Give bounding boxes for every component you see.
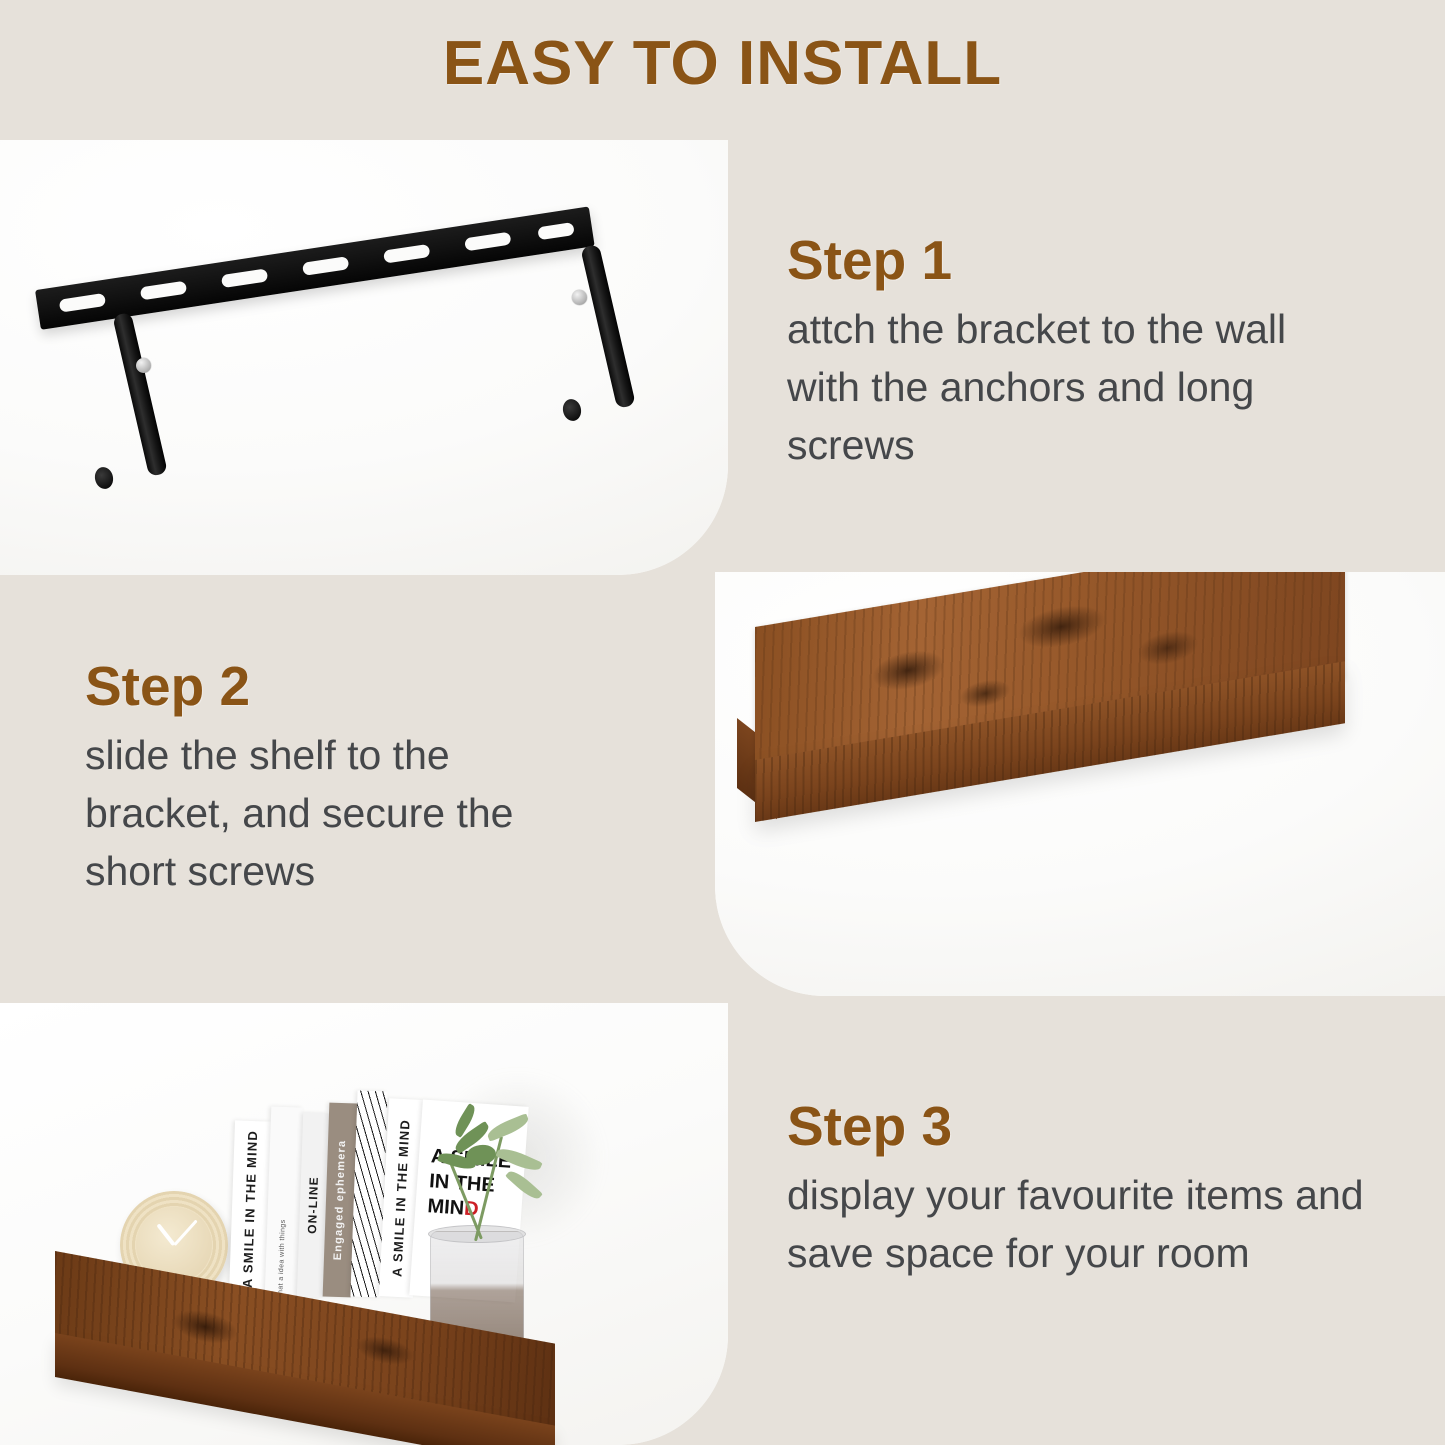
shelf-on-bracket-illustration: [715, 572, 1445, 996]
step-1-image-panel: [0, 140, 728, 575]
bracket-slot: [464, 232, 511, 252]
step-3-text-block: Step 3 display your favourite items and …: [787, 1098, 1437, 1282]
step-1-body: attch the bracket to the wall with the a…: [787, 300, 1347, 475]
rod-end-cap: [561, 397, 583, 422]
bracket-screw: [572, 290, 587, 305]
page-title: EASY TO INSTALL: [0, 28, 1445, 99]
infographic-canvas: EASY TO INSTALL Step 1: [0, 0, 1445, 1445]
step-1-text-block: Step 1 attch the bracket to the wall wit…: [787, 232, 1347, 474]
bracket-screw: [136, 358, 151, 373]
book-title: Engaged ephemera: [332, 1139, 348, 1260]
bracket-rod-right: [580, 244, 636, 409]
rod-end-cap: [93, 465, 115, 490]
bracket-slot: [383, 244, 430, 264]
bracket-bar: [35, 206, 595, 329]
clock-minute-hand: [173, 1219, 197, 1246]
bracket-slot: [302, 256, 349, 276]
step-2-image-panel: [715, 572, 1445, 996]
bracket-slot: [59, 293, 106, 313]
step-2-heading: Step 2: [85, 658, 605, 716]
bracket-rod-left: [112, 312, 168, 477]
bracket-slot: [537, 222, 575, 240]
step-1-heading: Step 1: [787, 232, 1347, 290]
book-title: A SMILE IN THE MIND: [389, 1119, 412, 1278]
wall-bracket-illustration: [0, 140, 728, 575]
bracket-slot: [140, 281, 187, 301]
step-3-body: display your favourite items and save sp…: [787, 1166, 1437, 1282]
book-subtitle: what a idea with things: [277, 1219, 287, 1299]
step-3-heading: Step 3: [787, 1098, 1437, 1156]
book-title: A SMILE IN THE MIND: [240, 1130, 261, 1289]
bracket-slot: [221, 268, 268, 288]
step-2-text-block: Step 2 slide the shelf to the bracket, a…: [85, 658, 605, 900]
step-2-body: slide the shelf to the bracket, and secu…: [85, 726, 605, 901]
book-title: ON-LINE: [305, 1176, 321, 1234]
step-3-image-panel: A SMILE IN THE MIND what a idea with thi…: [0, 1003, 728, 1445]
